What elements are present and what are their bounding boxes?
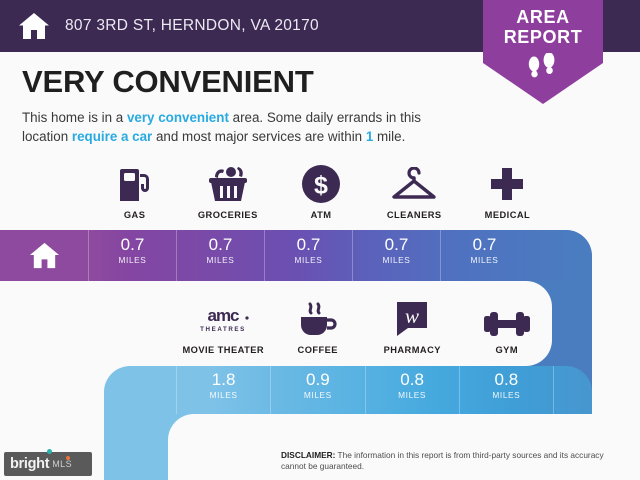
badge-line-2: REPORT [483,27,603,47]
summary-part-4: mile. [373,129,405,144]
distance-value: 0.7 [441,236,528,254]
distance-cell-atm: 0.7 MILES [264,230,352,281]
logo-bright-text: bright [10,456,49,472]
logo-orange-dot [66,456,70,460]
page-title: VERY CONVENIENT [22,64,492,100]
distance-unit: MILES [353,255,440,265]
svg-text:w: w [405,304,419,328]
distance-value: 0.9 [271,371,364,389]
dumbbell-icon [460,298,555,338]
coffee-cup-icon [271,298,366,338]
distance-value: 0.8 [366,371,459,389]
summary-part-1: This home is in a [22,110,127,125]
svg-text:THEATRES: THEATRES [200,326,246,333]
footprints-icon [522,53,564,79]
distance-unit: MILES [441,255,528,265]
amenity-coffee: COFFEE [271,298,366,355]
property-address: 807 3RD ST, HERNDON, VA 20170 [65,17,319,35]
amenity-label: CLEANERS [368,210,461,220]
distance-value: 0.7 [265,236,352,254]
distance-value: 0.7 [353,236,440,254]
amenity-label: MOVIE THEATER [176,345,271,355]
bar1-home-icon-cell [0,230,88,281]
amenity-label: COFFEE [271,345,366,355]
amc-theatres-logo-icon: amc THEATRES [176,298,271,338]
amenity-label: GROCERIES [181,210,274,220]
amenity-pharmacy: w PHARMACY [365,298,460,355]
distance-value: 0.7 [177,236,264,254]
distance-bar-2-cells: 1.8 MILES 0.9 MILES 0.8 MILES 0.8 MILES [176,366,554,414]
amenity-cleaners: CLEANERS [368,163,461,220]
amenity-icon-row-2: amc THEATRES MOVIE THEATER COFFEE w PHAR… [176,298,554,355]
logo-mls-text: MLS [52,459,72,469]
medical-cross-icon [461,163,554,203]
distance-cell-gym: 0.8 MILES [459,366,554,414]
summary-part-3: and most major services are within [152,129,366,144]
amenity-atm: $ ATM [274,163,367,220]
summary-highlight-1: very convenient [127,110,229,125]
distance-cell-pharmacy: 0.8 MILES [365,366,459,414]
gas-pump-icon [88,163,181,203]
home-icon [28,239,61,272]
distance-cell-cleaners: 0.7 MILES [352,230,440,281]
logo-teal-dot [47,449,52,454]
amenity-label: GYM [460,345,555,355]
svg-text:$: $ [314,172,328,200]
dollar-circle-icon: $ [274,163,367,203]
distance-unit: MILES [460,390,553,400]
clothes-hanger-icon [368,163,461,203]
amenity-label: GAS [88,210,181,220]
distance-unit: MILES [265,255,352,265]
distance-cell-groceries: 0.7 MILES [176,230,264,281]
distance-unit: MILES [271,390,364,400]
badge-line-1: AREA [483,7,603,27]
distance-cell-medical: 0.7 MILES [440,230,528,281]
amenity-icon-row-1: GAS GROCERIES $ ATM [88,163,554,220]
distance-value: 0.8 [460,371,553,389]
amenity-groceries: GROCERIES [181,163,274,220]
distance-unit: MILES [177,255,264,265]
amenity-gym: GYM [460,298,555,355]
amenity-label: MEDICAL [461,210,554,220]
grocery-basket-icon [181,163,274,203]
amenity-label: ATM [274,210,367,220]
distance-value: 1.8 [177,371,270,389]
home-icon [17,9,51,43]
distance-cell-movie-theater: 1.8 MILES [176,366,270,414]
amenity-label: PHARMACY [365,345,460,355]
disclaimer: DISCLAIMER: The information in this repo… [281,450,627,472]
amenity-gas: GAS [88,163,181,220]
distance-cell-gas: 0.7 MILES [88,230,176,281]
area-report-badge: AREA REPORT [483,0,603,104]
summary-paragraph: This home is in a very convenient area. … [22,108,447,147]
summary-highlight-2: require a car [72,129,152,144]
amenity-movie-theater: amc THEATRES MOVIE THEATER [176,298,271,355]
svg-text:amc: amc [208,306,240,325]
distance-cell-coffee: 0.9 MILES [270,366,364,414]
bright-mls-logo: bright MLS [4,452,92,476]
amenity-medical: MEDICAL [461,163,554,220]
distance-unit: MILES [177,390,270,400]
distance-unit: MILES [89,255,176,265]
distance-bar-1-cells: 0.7 MILES 0.7 MILES 0.7 MILES 0.7 MILES … [0,230,592,281]
distance-unit: MILES [366,390,459,400]
disclaimer-label: DISCLAIMER: [281,450,335,460]
walgreens-w-logo-icon: w [365,298,460,338]
distance-value: 0.7 [89,236,176,254]
